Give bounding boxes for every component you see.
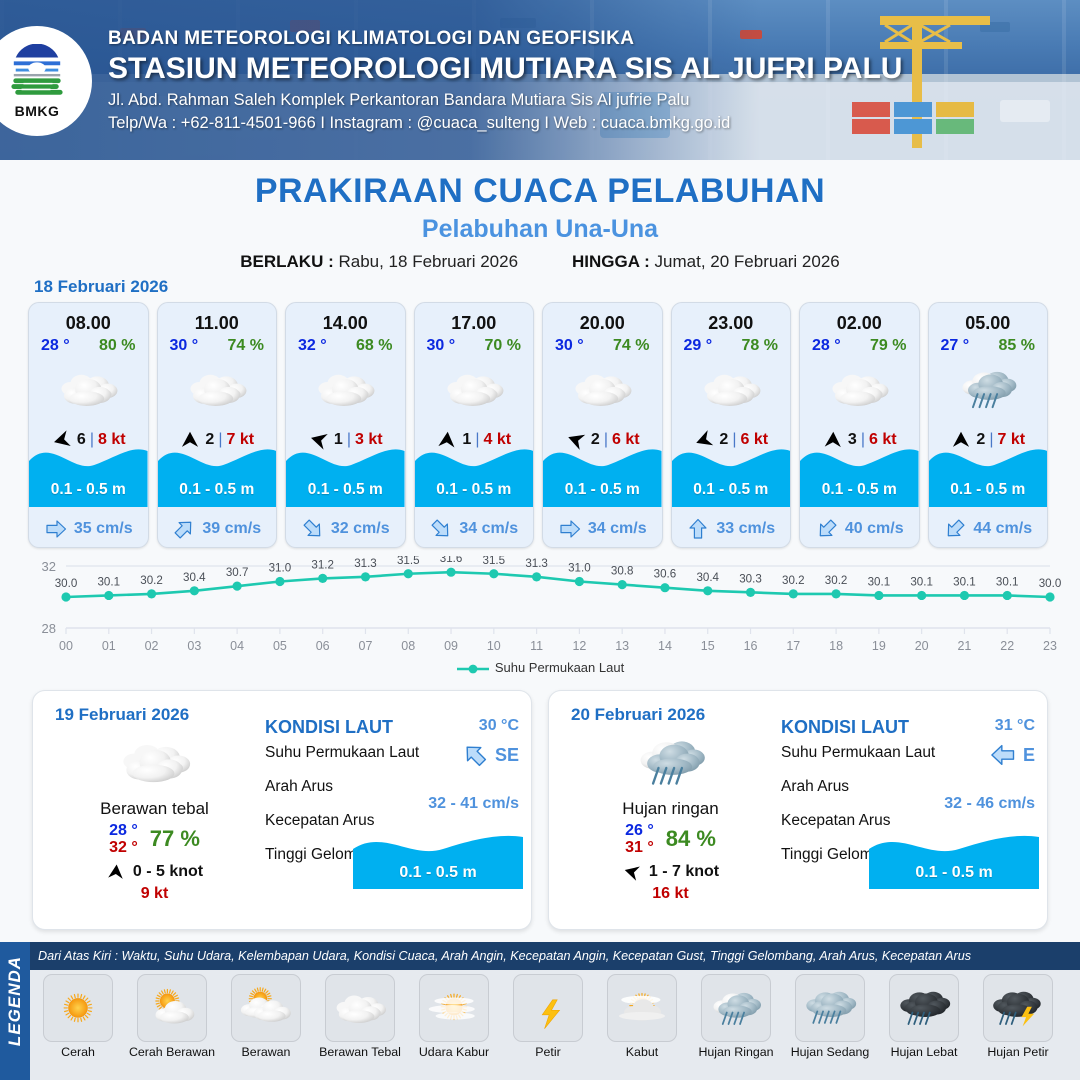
card-wave-area: 0.1 - 0.5 m [800, 439, 919, 507]
panel-current-speed-label: Kecepatan Arus [781, 812, 890, 829]
svg-text:28: 28 [42, 621, 56, 636]
header-organization: BADAN METEOROLOGI KLIMATOLOGI DAN GEOFIS… [108, 28, 1008, 50]
header-text-block: BADAN METEOROLOGI KLIMATOLOGI DAN GEOFIS… [108, 28, 1008, 133]
svg-text:30.1: 30.1 [868, 575, 891, 588]
svg-text:31.2: 31.2 [311, 558, 334, 571]
legend-item: Kabut [598, 974, 686, 1074]
card-humidity: 68 % [356, 337, 392, 355]
wind-direction-arrow-icon [622, 862, 642, 882]
svg-text:30.6: 30.6 [654, 568, 677, 581]
berawan-tebal-icon [184, 364, 250, 415]
panel-wind-row: 1 - 7 knot [563, 862, 778, 882]
svg-text:04: 04 [230, 639, 244, 653]
panel-wave-value: 0.1 - 0.5 m [353, 864, 523, 882]
card-time: 05.00 [929, 313, 1048, 334]
panel-current-speed-value: 32 - 41 cm/s [428, 795, 519, 813]
berawan-tebal-icon [312, 364, 378, 415]
card-time: 20.00 [543, 313, 662, 334]
svg-text:30.2: 30.2 [825, 574, 848, 587]
card-temperature: 30 ° [555, 337, 584, 355]
card-weather-icon [929, 357, 1048, 421]
hujan-lebat-icon [895, 986, 953, 1031]
cerah-berawan-icon [143, 986, 201, 1031]
berawan-icon [237, 986, 295, 1031]
legend-icon-box [701, 974, 771, 1042]
card-wave-height: 0.1 - 0.5 m [29, 481, 148, 499]
panel-wind-range: 1 - 7 knot [649, 863, 719, 881]
panel-current-direction-value: E [989, 741, 1035, 769]
panel-temp-max: 32 ° [109, 839, 138, 856]
svg-text:21: 21 [957, 639, 971, 653]
legend-item: Cerah Berawan [128, 974, 216, 1074]
card-temp-humidity-row: 30 °70 % [415, 334, 534, 355]
card-current-row: 32 cm/s [286, 517, 405, 541]
card-current-speed: 39 cm/s [202, 520, 261, 538]
card-weather-icon [415, 357, 534, 421]
current-direction-arrow-icon [301, 517, 325, 541]
card-wave-area: 0.1 - 0.5 m [543, 439, 662, 507]
card-wave-area: 0.1 - 0.5 m [929, 439, 1048, 507]
svg-text:15: 15 [701, 639, 715, 653]
legend-item-label: Cerah [34, 1045, 122, 1059]
legend-item-label: Berawan Tebal [316, 1045, 404, 1059]
svg-text:14: 14 [658, 639, 672, 653]
day-summary-panel: 19 Februari 2026Berawan tebal28 °32 °77 … [32, 690, 532, 930]
legend-icon-box [137, 974, 207, 1042]
card-current-row: 35 cm/s [29, 517, 148, 541]
panel-weather-icon [47, 731, 262, 793]
berawan-tebal-icon [441, 364, 507, 415]
svg-text:09: 09 [444, 639, 458, 653]
wind-direction-arrow-icon [106, 862, 126, 882]
card-weather-icon [29, 357, 148, 421]
legend-icon-box [607, 974, 677, 1042]
card-current-speed: 40 cm/s [845, 520, 904, 538]
current-direction-arrow-icon [44, 517, 68, 541]
card-current-row: 39 cm/s [158, 517, 277, 541]
svg-text:30.7: 30.7 [226, 566, 249, 579]
card-weather-icon [800, 357, 919, 421]
legend-icon-box [419, 974, 489, 1042]
card-wave-height: 0.1 - 0.5 m [800, 481, 919, 499]
card-weather-icon [543, 357, 662, 421]
current-direction-arrow-icon [429, 517, 453, 541]
panel-weather-icon [563, 731, 778, 793]
svg-text:30.3: 30.3 [739, 572, 762, 585]
cerah-icon [49, 986, 107, 1031]
validity-row: BERLAKU : Rabu, 18 Februari 2026 HINGGA … [0, 252, 1080, 272]
panel-current-speed-value: 32 - 46 cm/s [944, 795, 1035, 813]
panel-sea-conditions: KONDISI LAUTSuhu Permukaan LautArah Arus… [265, 717, 523, 880]
svg-text:30.1: 30.1 [953, 575, 976, 588]
legend-line-marker-icon [456, 663, 490, 675]
legend-icon-box [983, 974, 1053, 1042]
card-wave-height: 0.1 - 0.5 m [286, 481, 405, 499]
legend-icon-box [43, 974, 113, 1042]
current-direction-arrow-icon [172, 517, 196, 541]
card-temp-humidity-row: 28 °79 % [800, 334, 919, 355]
card-current-row: 34 cm/s [543, 517, 662, 541]
svg-text:30.4: 30.4 [183, 571, 206, 584]
card-current-row: 34 cm/s [415, 517, 534, 541]
hujan-ringan-icon [632, 732, 710, 793]
hujan-ringan-icon [955, 364, 1021, 415]
bmkg-logo-text: BMKG [15, 103, 60, 119]
panel-gust: 16 kt [563, 885, 778, 903]
header-contact: Telp/Wa : +62-811-4501-966 I Instagram :… [108, 114, 1008, 133]
svg-text:06: 06 [316, 639, 330, 653]
svg-text:30.1: 30.1 [97, 575, 120, 588]
card-current-row: 44 cm/s [929, 517, 1048, 541]
legend-item-label: Hujan Sedang [786, 1045, 874, 1059]
card-temp-humidity-row: 32 °68 % [286, 334, 405, 355]
petir-icon [519, 986, 577, 1031]
forecast-card[interactable]: 02.0028 °79 %3|6 kt0.1 - 0.5 m40 cm/s [799, 302, 920, 548]
legend-icon-box [231, 974, 301, 1042]
card-time: 11.00 [158, 313, 277, 334]
legend-bar: LEGENDA Dari Atas Kiri : Waktu, Suhu Uda… [0, 942, 1080, 1080]
legend-item: Berawan [222, 974, 310, 1074]
svg-text:30.1: 30.1 [910, 575, 933, 588]
svg-text:05: 05 [273, 639, 287, 653]
legend-item: Hujan Ringan [692, 974, 780, 1074]
chart-legend: Suhu Permukaan Laut [0, 660, 1080, 675]
legend-side-title-text: LEGENDA [5, 947, 25, 1055]
forecast-card[interactable]: 23.0029 °78 %2|6 kt0.1 - 0.5 m33 cm/s [671, 302, 792, 548]
card-current-speed: 34 cm/s [459, 520, 518, 538]
legend-icon-box [795, 974, 865, 1042]
card-time: 17.00 [415, 313, 534, 334]
svg-text:23: 23 [1043, 639, 1057, 653]
svg-text:00: 00 [59, 639, 73, 653]
svg-text:31.0: 31.0 [269, 562, 292, 575]
panel-current-direction-label: Arah Arus [781, 778, 849, 795]
panel-wave-box: 0.1 - 0.5 m [869, 833, 1039, 889]
card-current-row: 40 cm/s [800, 517, 919, 541]
card-temp-humidity-row: 29 °78 % [672, 334, 791, 355]
card-temp-humidity-row: 30 °74 % [543, 334, 662, 355]
card-wave-area: 0.1 - 0.5 m [672, 439, 791, 507]
svg-text:30.4: 30.4 [696, 571, 719, 584]
page-subtitle-port: Pelabuhan Una-Una [0, 215, 1080, 244]
card-time: 02.00 [800, 313, 919, 334]
svg-text:30.2: 30.2 [782, 574, 805, 587]
page-title: PRAKIRAAN CUACA PELABUHAN [0, 172, 1080, 211]
svg-text:01: 01 [102, 639, 116, 653]
card-humidity: 80 % [99, 337, 135, 355]
legend-item: Cerah [34, 974, 122, 1074]
current-direction-arrow-icon [989, 741, 1017, 769]
card-temp-humidity-row: 27 °85 % [929, 334, 1048, 355]
panel-temp-humidity-row: 26 °31 °84 % [563, 822, 778, 857]
svg-text:20: 20 [915, 639, 929, 653]
panel-date: 20 Februari 2026 [571, 705, 705, 725]
card-temperature: 28 ° [41, 337, 70, 355]
panel-temp-min: 28 ° [109, 822, 138, 839]
svg-text:31.0: 31.0 [568, 562, 591, 575]
berawan-tebal-icon [826, 364, 892, 415]
card-temp-humidity-row: 30 °74 % [158, 334, 277, 355]
legend-side-title: LEGENDA [0, 942, 30, 1080]
current-direction-arrow-icon [686, 517, 710, 541]
panel-left-summary: Berawan tebal28 °32 °77 %0 - 5 knot9 kt [47, 731, 262, 903]
svg-text:30.2: 30.2 [140, 574, 163, 587]
svg-text:03: 03 [187, 639, 201, 653]
hourly-forecast-cards: 08.0028 °80 %6|8 kt0.1 - 0.5 m35 cm/s11.… [28, 302, 1054, 548]
bmkg-logo-mark [8, 44, 66, 102]
forecast-card[interactable]: 11.0030 °74 %2|7 kt0.1 - 0.5 m39 cm/s [157, 302, 278, 548]
legend-item-label: Hujan Ringan [692, 1045, 780, 1059]
legend-icon-box [889, 974, 959, 1042]
svg-text:32: 32 [42, 559, 56, 574]
card-weather-icon [158, 357, 277, 421]
panel-wave-box: 0.1 - 0.5 m [353, 833, 523, 889]
panel-left-summary: Hujan ringan26 °31 °84 %1 - 7 knot16 kt [563, 731, 778, 903]
panel-sst-label: Suhu Permukaan Laut [265, 744, 419, 761]
panel-sst-value: 30 °C [479, 717, 519, 735]
legend-item: Berawan Tebal [316, 974, 404, 1074]
card-weather-icon [672, 357, 791, 421]
current-direction-arrow-icon [461, 741, 489, 769]
card-temp-humidity-row: 28 °80 % [29, 334, 148, 355]
svg-text:13: 13 [615, 639, 629, 653]
card-wave-height: 0.1 - 0.5 m [543, 481, 662, 499]
forecast-date-label: 18 Februari 2026 [34, 277, 168, 297]
svg-text:31.6: 31.6 [440, 556, 463, 565]
forecast-card[interactable]: 14.0032 °68 %1|3 kt0.1 - 0.5 m32 cm/s [285, 302, 406, 548]
card-humidity: 79 % [870, 337, 906, 355]
current-direction-arrow-icon [943, 517, 967, 541]
valid-from-label: BERLAKU : [240, 252, 334, 271]
card-wave-height: 0.1 - 0.5 m [158, 481, 277, 499]
forecast-card[interactable]: 17.0030 °70 %1|4 kt0.1 - 0.5 m34 cm/s [414, 302, 535, 548]
forecast-card[interactable]: 20.0030 °74 %2|6 kt0.1 - 0.5 m34 cm/s [542, 302, 663, 548]
svg-text:31.5: 31.5 [483, 556, 506, 567]
svg-text:08: 08 [401, 639, 415, 653]
hujan-sedang-icon [801, 986, 859, 1031]
legend-item: Hujan Petir [974, 974, 1062, 1074]
card-temperature: 27 ° [941, 337, 970, 355]
panel-humidity: 84 % [666, 826, 716, 852]
panel-temperature-range: 28 °32 ° [109, 822, 138, 857]
card-wave-area: 0.1 - 0.5 m [415, 439, 534, 507]
legend-item-label: Hujan Lebat [880, 1045, 968, 1059]
card-current-speed: 33 cm/s [716, 520, 775, 538]
panel-condition-label: Berawan tebal [47, 799, 262, 819]
card-humidity: 85 % [999, 337, 1035, 355]
legend-item: Hujan Sedang [786, 974, 874, 1074]
valid-until-label: HINGGA : [572, 252, 650, 271]
valid-from: BERLAKU : Rabu, 18 Februari 2026 [240, 252, 518, 272]
valid-from-value: Rabu, 18 Februari 2026 [338, 252, 518, 271]
berawan-tebal-icon [55, 364, 121, 415]
legend-item-label: Kabut [598, 1045, 686, 1059]
card-wave-area: 0.1 - 0.5 m [158, 439, 277, 507]
current-direction-arrow-icon [558, 517, 582, 541]
hujan-petir-icon [989, 986, 1047, 1031]
card-temperature: 32 ° [298, 337, 327, 355]
card-temperature: 29 ° [684, 337, 713, 355]
current-direction-arrow-icon [815, 517, 839, 541]
legend-item: Petir [504, 974, 592, 1074]
card-weather-icon [286, 357, 405, 421]
card-humidity: 74 % [228, 337, 264, 355]
svg-text:19: 19 [872, 639, 886, 653]
card-humidity: 70 % [485, 337, 521, 355]
panel-current-speed-label: Kecepatan Arus [265, 812, 374, 829]
berawan-tebal-icon [569, 364, 635, 415]
card-wave-area: 0.1 - 0.5 m [29, 439, 148, 507]
svg-text:12: 12 [572, 639, 586, 653]
legend-item-label: Hujan Petir [974, 1045, 1062, 1059]
card-humidity: 74 % [613, 337, 649, 355]
legend-item-label: Petir [504, 1045, 592, 1059]
valid-until: HINGGA : Jumat, 20 Februari 2026 [572, 252, 840, 272]
panel-current-direction-text: SE [495, 745, 519, 766]
svg-text:31.5: 31.5 [397, 556, 420, 567]
panel-sea-conditions: KONDISI LAUTSuhu Permukaan LautArah Arus… [781, 717, 1039, 880]
card-wave-height: 0.1 - 0.5 m [672, 481, 791, 499]
udara-kabur-icon [425, 986, 483, 1031]
card-temperature: 30 ° [427, 337, 456, 355]
card-current-speed: 32 cm/s [331, 520, 390, 538]
card-current-speed: 35 cm/s [74, 520, 133, 538]
svg-text:11: 11 [530, 639, 543, 653]
berawan-tebal-icon [116, 732, 194, 793]
card-humidity: 78 % [742, 337, 778, 355]
panel-condition-label: Hujan ringan [563, 799, 778, 819]
svg-text:30.1: 30.1 [996, 575, 1019, 588]
card-time: 23.00 [672, 313, 791, 334]
panel-wave-value: 0.1 - 0.5 m [869, 864, 1039, 882]
svg-text:31.3: 31.3 [525, 557, 548, 570]
svg-text:17: 17 [786, 639, 800, 653]
legend-item-label: Cerah Berawan [128, 1045, 216, 1059]
forecast-card[interactable]: 05.0027 °85 %2|7 kt0.1 - 0.5 m44 cm/s [928, 302, 1049, 548]
panel-date: 19 Februari 2026 [55, 705, 189, 725]
legend-icon-box [513, 974, 583, 1042]
header-address: Jl. Abd. Rahman Saleh Komplek Perkantora… [108, 91, 1008, 110]
svg-text:30.0: 30.0 [55, 577, 78, 590]
header-station-name: STASIUN METEOROLOGI MUTIARA SIS AL JUFRI… [108, 52, 1008, 86]
panel-current-direction-text: E [1023, 745, 1035, 766]
svg-text:07: 07 [359, 639, 373, 653]
panel-temp-humidity-row: 28 °32 °77 % [47, 822, 262, 857]
valid-until-value: Jumat, 20 Februari 2026 [655, 252, 840, 271]
card-current-speed: 44 cm/s [973, 520, 1032, 538]
card-temperature: 30 ° [170, 337, 199, 355]
card-wave-height: 0.1 - 0.5 m [929, 481, 1048, 499]
card-wave-area: 0.1 - 0.5 m [286, 439, 405, 507]
legend-icon-box [325, 974, 395, 1042]
panel-current-direction-value: SE [461, 741, 519, 769]
panel-temp-max: 31 ° [625, 839, 654, 856]
svg-text:31.3: 31.3 [354, 557, 377, 570]
card-temperature: 28 ° [812, 337, 841, 355]
berawan-tebal-icon [698, 364, 764, 415]
panel-gust: 9 kt [47, 885, 262, 903]
kabut-icon [613, 986, 671, 1031]
legend-icon-list: CerahCerah BerawanBerawanBerawan TebalUd… [34, 974, 1074, 1074]
legend-item: Hujan Lebat [880, 974, 968, 1074]
card-current-speed: 34 cm/s [588, 520, 647, 538]
card-time: 14.00 [286, 313, 405, 334]
panel-current-direction-label: Arah Arus [265, 778, 333, 795]
legend-item-label: Berawan [222, 1045, 310, 1059]
card-current-row: 33 cm/s [672, 517, 791, 541]
hujan-ringan-icon [707, 986, 765, 1031]
berawan-tebal-icon [331, 986, 389, 1031]
day-summary-panel: 20 Februari 2026Hujan ringan26 °31 °84 %… [548, 690, 1048, 930]
panel-sst-value: 31 °C [995, 717, 1035, 735]
svg-text:22: 22 [1000, 639, 1014, 653]
panel-temperature-range: 26 °31 ° [625, 822, 654, 857]
card-wave-height: 0.1 - 0.5 m [415, 481, 534, 499]
panel-temp-min: 26 ° [625, 822, 654, 839]
card-time: 08.00 [29, 313, 148, 334]
legend-item: Udara Kabur [410, 974, 498, 1074]
forecast-card[interactable]: 08.0028 °80 %6|8 kt0.1 - 0.5 m35 cm/s [28, 302, 149, 548]
svg-text:16: 16 [744, 639, 758, 653]
panel-wind-row: 0 - 5 knot [47, 862, 262, 882]
legend-item-label: Udara Kabur [410, 1045, 498, 1059]
chart-legend-label: Suhu Permukaan Laut [495, 660, 624, 675]
page-header: BMKG BADAN METEOROLOGI KLIMATOLOGI DAN G… [0, 0, 1080, 160]
svg-text:30.8: 30.8 [611, 565, 634, 578]
panel-humidity: 77 % [150, 826, 200, 852]
svg-text:02: 02 [145, 639, 159, 653]
panel-sst-label: Suhu Permukaan Laut [781, 744, 935, 761]
panel-wind-range: 0 - 5 knot [133, 863, 203, 881]
svg-text:10: 10 [487, 639, 501, 653]
legend-note-text: Dari Atas Kiri : Waktu, Suhu Udara, Kele… [30, 942, 1080, 970]
svg-text:18: 18 [829, 639, 843, 653]
svg-text:30.0: 30.0 [1039, 577, 1062, 590]
